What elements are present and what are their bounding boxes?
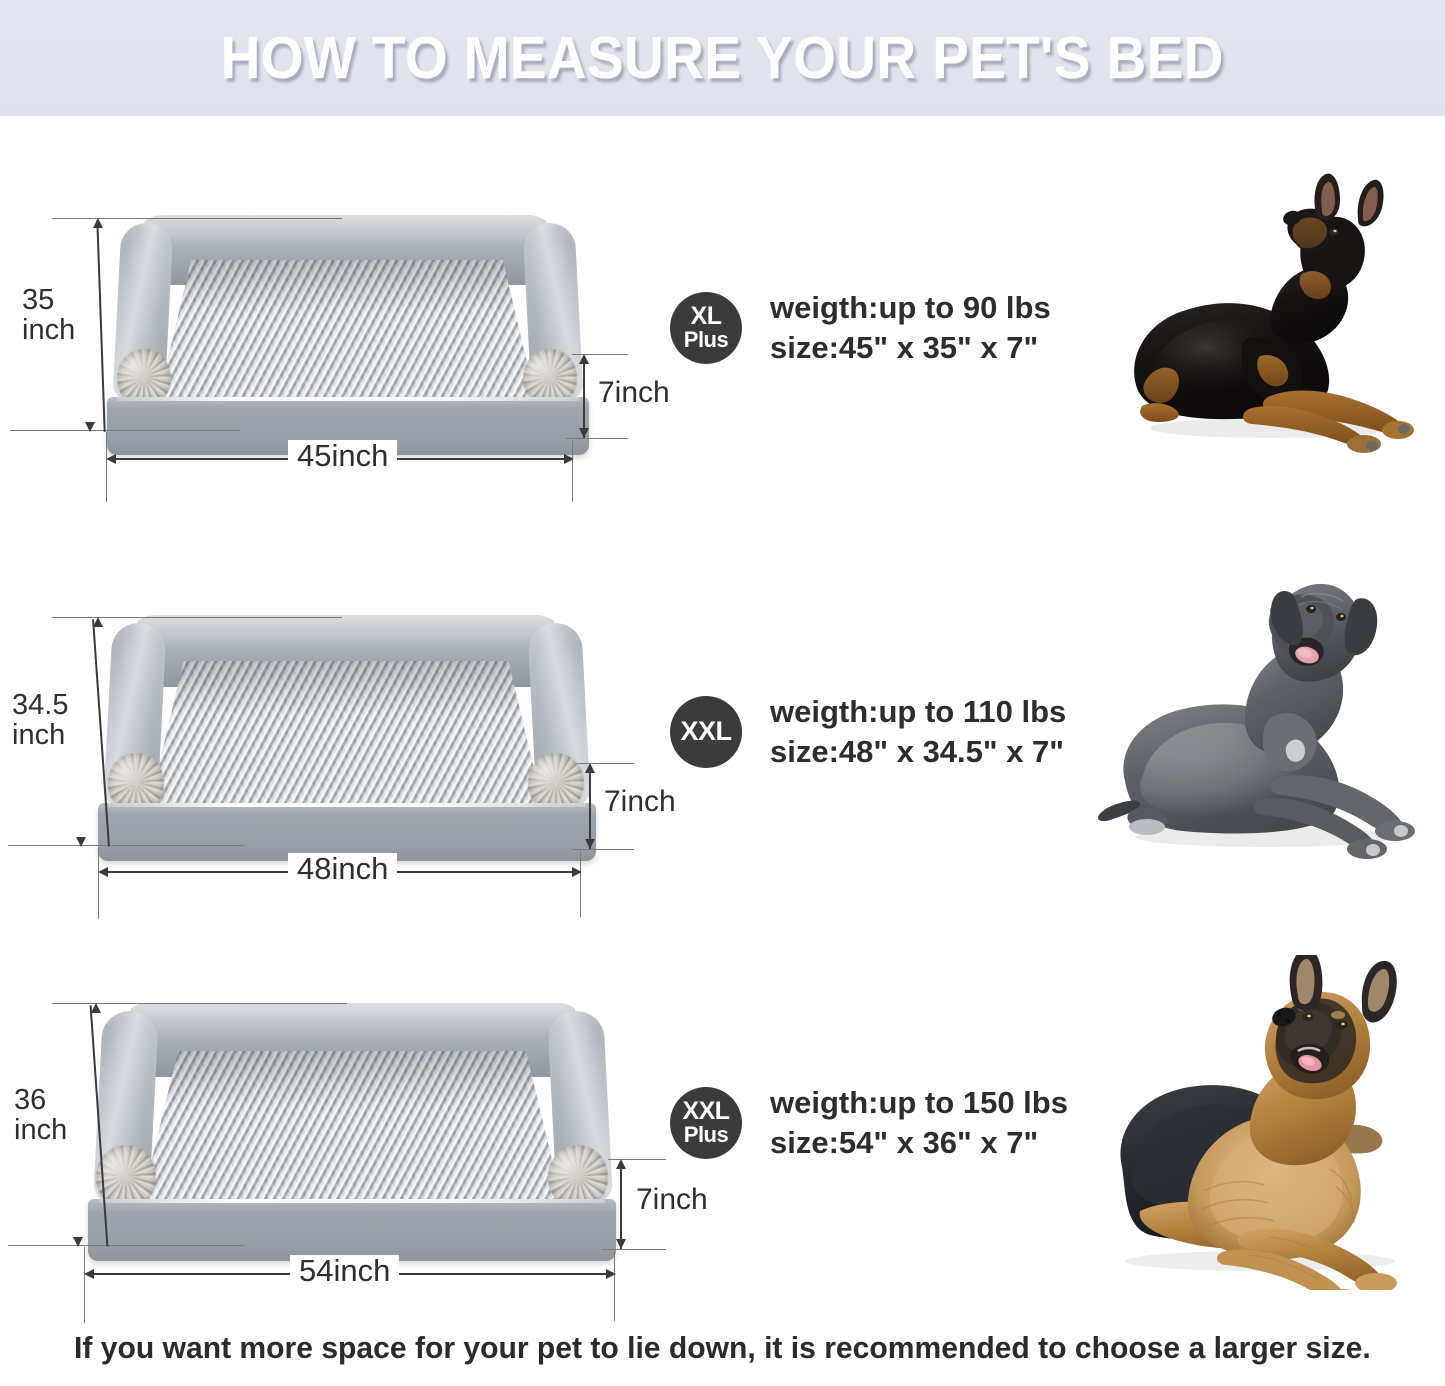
dog-photo-great-dane xyxy=(1095,565,1425,865)
badge-size-main: XL xyxy=(691,304,722,329)
size-badge-xxl-plus: XXL Plus xyxy=(670,1087,742,1159)
height-dimension-line xyxy=(620,1161,622,1249)
size-badge-xl-plus: XL Plus xyxy=(670,292,742,364)
size-row-xxl: 34.5 inch 48inch 7inch XXL weigth:up to … xyxy=(0,555,1445,945)
dimension-height-xxl: 7inch xyxy=(0,555,700,885)
size-line-xxl-plus: size:54" x 36" x 7" xyxy=(770,1123,1068,1163)
size-line-xl-plus: size:45" x 35" x 7" xyxy=(770,328,1051,368)
badge-size-main: XXL xyxy=(682,1099,729,1124)
dimension-height-xxl-plus: 7inch xyxy=(0,945,720,1285)
height-label-xxl: 7inch xyxy=(604,787,676,818)
height-label-xl-plus: 7inch xyxy=(598,378,670,409)
page-title: HOW TO MEASURE YOUR PET'S BED xyxy=(221,24,1224,92)
dog-photo-doberman xyxy=(1120,170,1420,460)
height-dimension-line xyxy=(589,765,591,849)
size-line-xxl: size:48" x 34.5" x 7" xyxy=(770,732,1066,772)
weight-line-xxl: weigth:up to 110 lbs xyxy=(770,692,1066,732)
footer-note-wrap: If you want more space for your pet to l… xyxy=(0,1330,1445,1366)
size-row-xxl-plus: 36 inch 54inch 7inch XXL Plus weigth:up … xyxy=(0,945,1445,1335)
spec-xl-plus: XL Plus weigth:up to 90 lbs size:45" x 3… xyxy=(670,288,1051,367)
badge-size-sub: Plus xyxy=(684,1124,728,1146)
spec-text-xl-plus: weigth:up to 90 lbs size:45" x 35" x 7" xyxy=(770,288,1051,367)
spec-xxl: XXL weigth:up to 110 lbs size:48" x 34.5… xyxy=(670,692,1066,771)
spec-xxl-plus: XXL Plus weigth:up to 150 lbs size:54" x… xyxy=(670,1083,1068,1162)
badge-size-sub: Plus xyxy=(684,329,728,351)
height-label-xxl-plus: 7inch xyxy=(636,1185,708,1216)
badge-size-main: XXL xyxy=(680,718,731,744)
spec-text-xxl-plus: weigth:up to 150 lbs size:54" x 36" x 7" xyxy=(770,1083,1068,1162)
weight-line-xl-plus: weigth:up to 90 lbs xyxy=(770,288,1051,328)
header-banner: HOW TO MEASURE YOUR PET'S BED xyxy=(0,0,1445,116)
weight-line-xxl-plus: weigth:up to 150 lbs xyxy=(770,1083,1068,1123)
footer-note: If you want more space for your pet to l… xyxy=(74,1330,1371,1366)
height-dimension-line xyxy=(583,356,585,438)
size-row-xl-plus: 35 inch 45inch 7inch XL Plus weigth:up t… xyxy=(0,150,1445,540)
size-badge-xxl: XXL xyxy=(670,696,742,768)
dog-photo-german-shepherd xyxy=(1080,955,1425,1290)
spec-text-xxl: weigth:up to 110 lbs size:48" x 34.5" x … xyxy=(770,692,1066,771)
dimension-height-xl-plus: 7inch xyxy=(0,150,700,470)
